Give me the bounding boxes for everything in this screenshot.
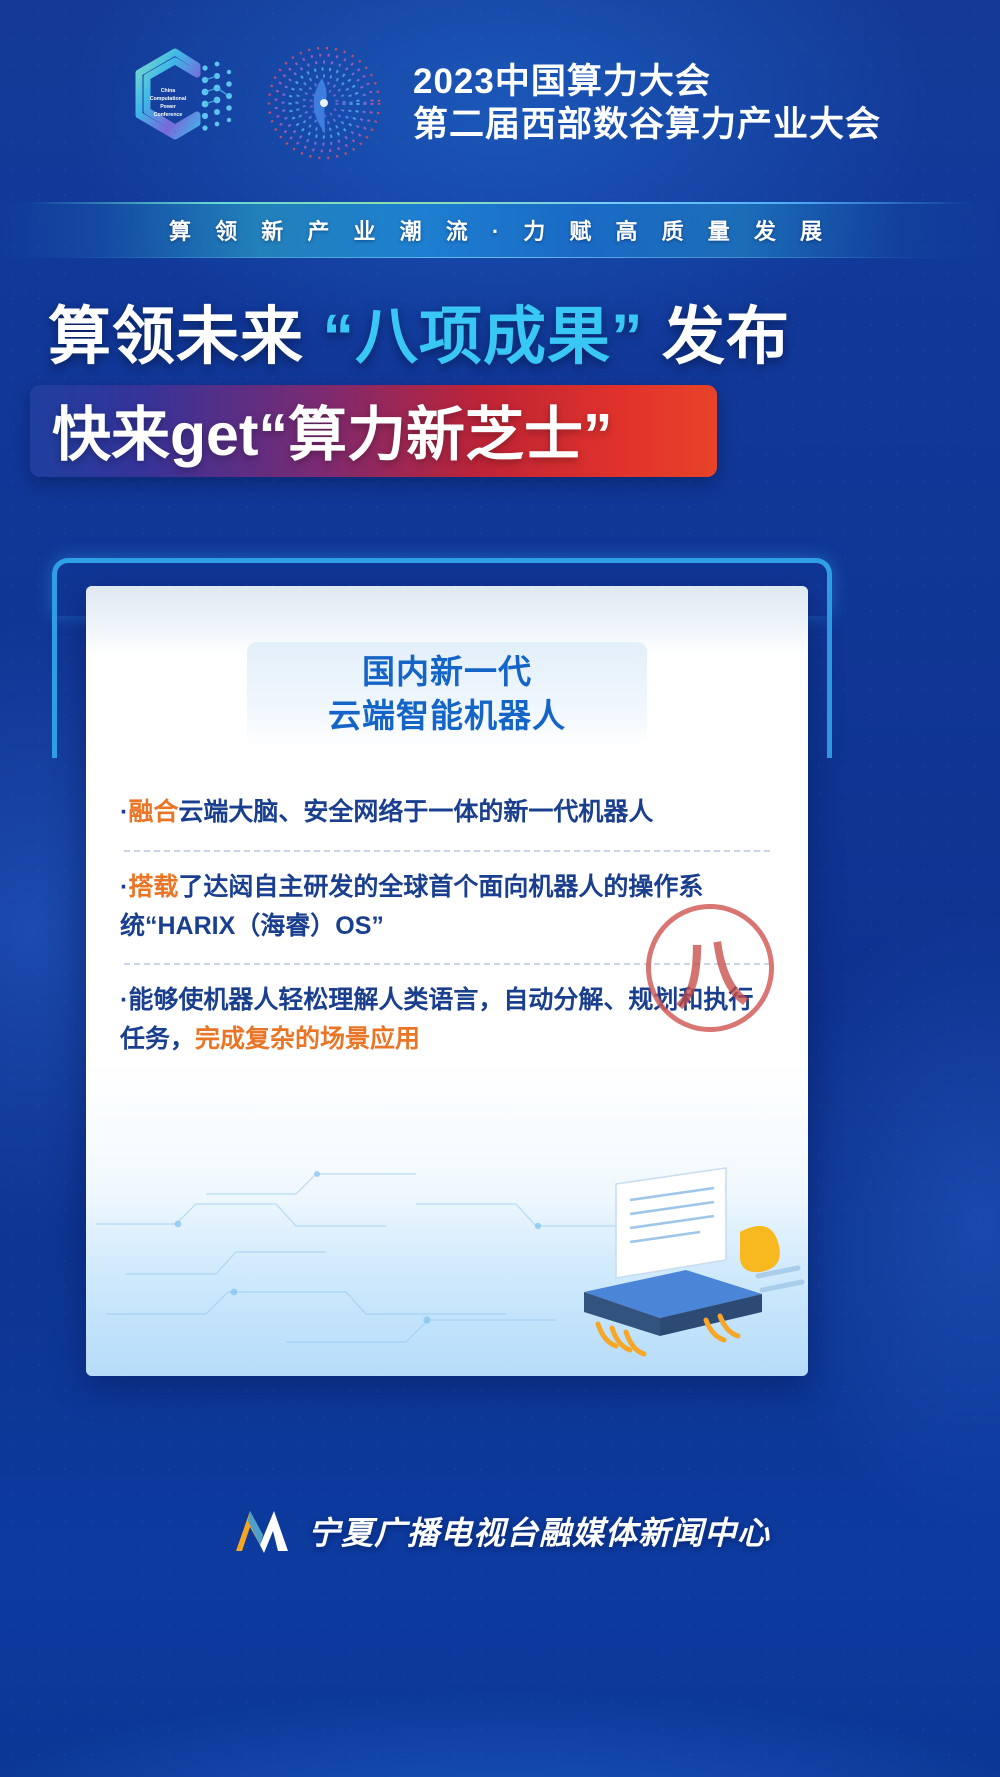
bullet-1-highlight: 融合 <box>128 798 178 826</box>
card-illustration <box>86 1164 808 1376</box>
ningxia-n-logo-icon <box>230 1501 296 1561</box>
achievement-card: 国内新一代 云端智能机器人 ·融合云端大脑、安全网络于一体的新一代机器人 ·搭载… <box>86 586 808 1376</box>
header-title-line2: 第二届西部数谷算力产业大会 <box>413 105 881 144</box>
conference-header: China Computational Power Conference <box>0 0 1000 200</box>
headline-line1-part1: 算领未来 <box>48 302 323 372</box>
card-title: 国内新一代 云端智能机器人 <box>247 642 647 749</box>
bullet-item-1: ·融合云端大脑、安全网络于一体的新一代机器人 <box>120 777 774 850</box>
poster-footer: 宁夏广播电视台融媒体新闻中心 <box>0 1437 1000 1777</box>
svg-text:China: China <box>161 88 176 94</box>
headline-line2-wrap: 快来get“算力新芝士” <box>48 389 613 481</box>
footer-text: 宁夏广播电视台融媒体新闻中心 <box>308 1508 770 1554</box>
tagline-text: 算 领 新 产 业 潮 流 · 力 赋 高 质 量 发 展 <box>169 214 831 246</box>
bullet-1-text: 云端大脑、安全网络于一体的新一代机器人 <box>178 798 653 826</box>
poster-headline: 算领未来 “八项成果” 发布 快来get“算力新芝士” <box>0 302 1000 481</box>
card-title-line2: 云端智能机器人 <box>265 694 629 738</box>
radial-fan-logo <box>265 44 383 162</box>
achievement-card-outer: 国内新一代 云端智能机器人 ·融合云端大脑、安全网络于一体的新一代机器人 ·搭载… <box>52 558 842 1378</box>
headline-line2: 快来get“算力新芝士” <box>48 389 613 481</box>
card-title-line1: 国内新一代 <box>265 650 629 694</box>
bullet-3-tail-highlight: 完成复杂的场景应用 <box>195 1025 420 1053</box>
stamp-character: 八 <box>669 912 750 1024</box>
card-frame-side-right <box>827 608 832 758</box>
svg-text:Power: Power <box>160 104 176 110</box>
header-title-line1: 2023中国算力大会 <box>413 62 881 101</box>
svg-text:Computational: Computational <box>150 96 187 102</box>
card-frame-side-left <box>52 608 57 758</box>
china-computational-power-conference-logo: China Computational Power Conference <box>119 42 239 164</box>
bullet-2-highlight: 搭载 <box>128 873 178 901</box>
bullet-2-text: 了达闼自主研发的全球首个面向机器人的操作系统“HARIX（海睿）OS” <box>120 873 703 940</box>
footer-row: 宁夏广播电视台融媒体新闻中心 <box>0 1501 1000 1561</box>
headline-line1-part2: 发布 <box>644 302 791 372</box>
header-title-block: 2023中国算力大会 第二届西部数谷算力产业大会 <box>413 62 881 144</box>
tagline-band: 算 领 新 产 业 潮 流 · 力 赋 高 质 量 发 展 <box>0 202 1000 258</box>
headline-line1-highlight: “八项成果” <box>323 302 644 372</box>
headline-line1: 算领未来 “八项成果” 发布 <box>48 302 1000 373</box>
svg-text:Conference: Conference <box>154 112 183 118</box>
